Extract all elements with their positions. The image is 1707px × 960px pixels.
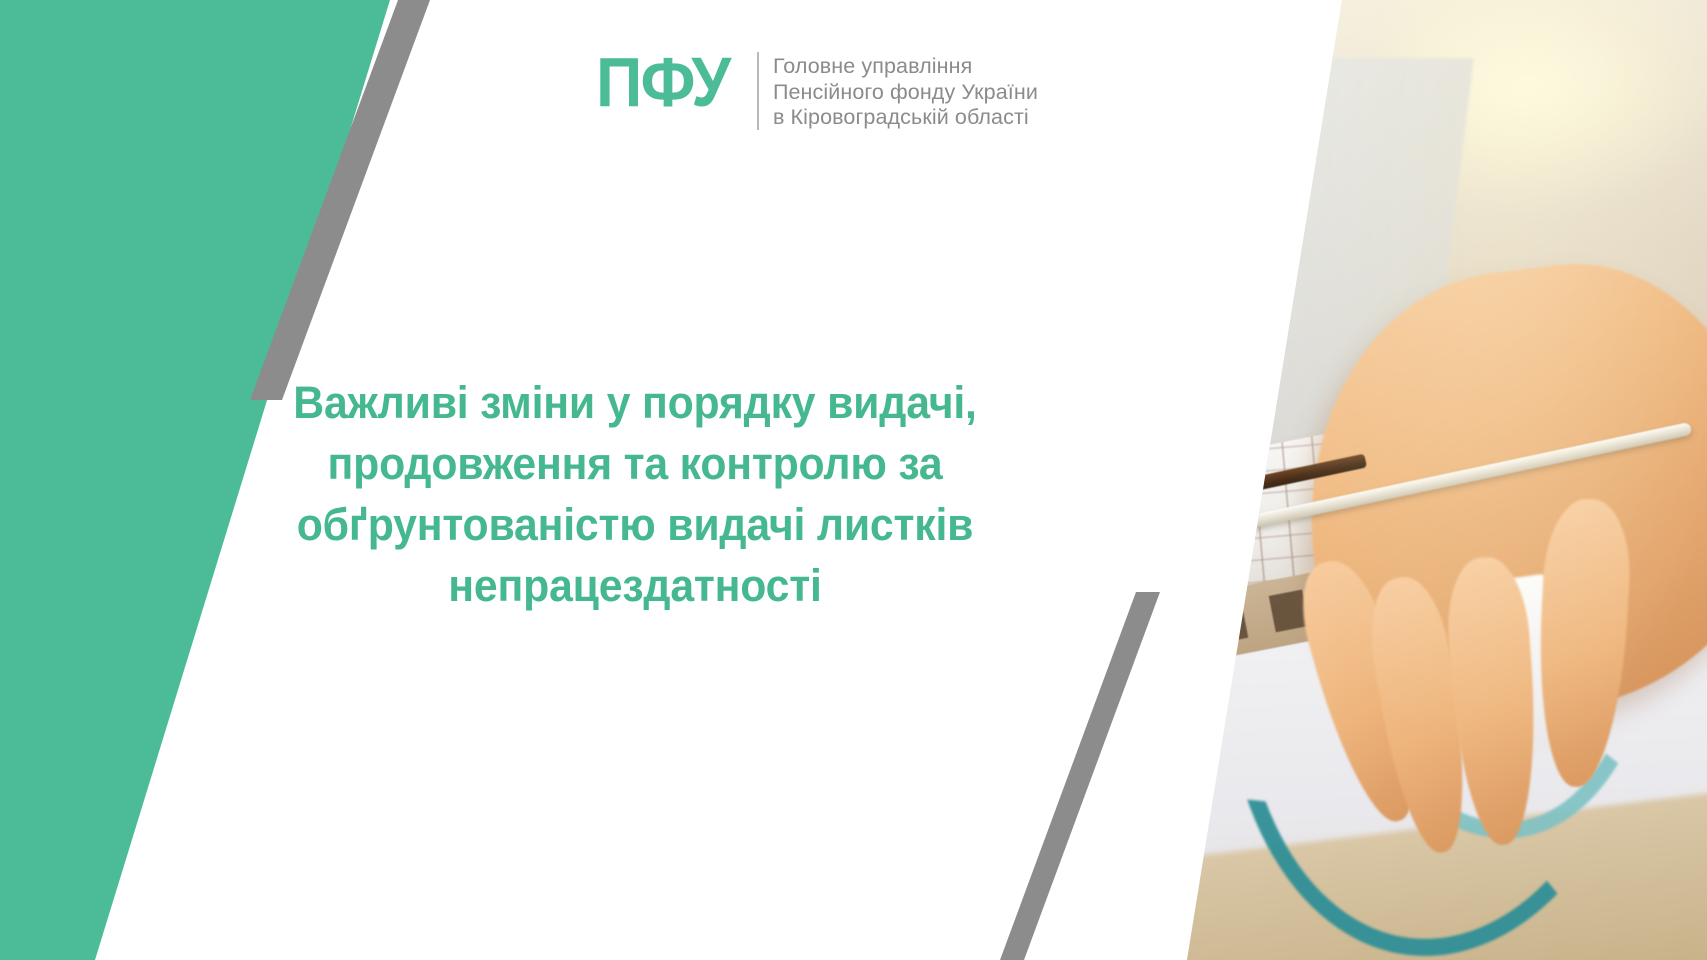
logo-line-1: Головне управління [773,54,1038,80]
pfu-logo: ПФУ Головне управління Пенсійного фонду … [596,46,1038,136]
headline-line-3: обґрунтованістю видачі листків [260,494,1011,555]
headline: Важливі зміни у порядку видачі, продовже… [260,372,1011,616]
banner-canvas: ПФУ Головне управління Пенсійного фонду … [0,0,1707,960]
logo-line-2: Пенсійного фонду України [773,80,1038,106]
logo-organisation-text: Головне управління Пенсійного фонду Укра… [773,46,1038,131]
logo-divider [757,52,759,130]
photo-inner [1167,0,1707,960]
photo-hand-laptop-stethoscope [1167,0,1707,960]
pen-tip [1212,458,1257,478]
headline-line-2: продовження та контролю за [260,433,1011,494]
pfu-logo-mark: ПФУ [596,46,729,118]
headline-line-1: Важливі зміни у порядку видачі, [260,372,1011,433]
logo-line-3: в Кіровоградській області [773,105,1038,131]
right-gray-diagonal-stripe [1000,592,1160,960]
headline-line-4: непрацездатності [260,555,1011,616]
